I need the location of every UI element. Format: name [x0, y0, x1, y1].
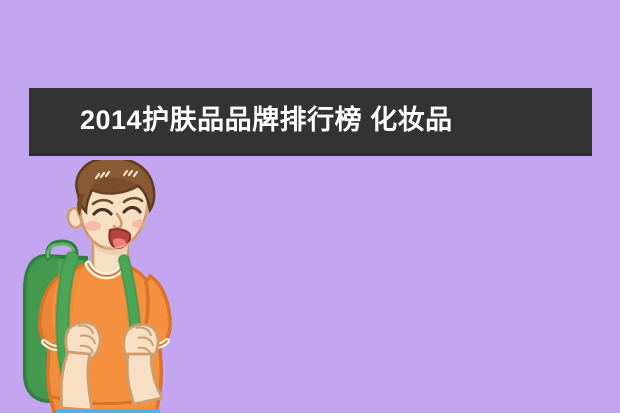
- blue-jeans: [56, 409, 160, 413]
- page-title: 2014护肤品品牌排行榜 化妆品: [80, 106, 453, 133]
- title-banner: 2014护肤品品牌排行榜 化妆品: [29, 88, 592, 156]
- head: [68, 160, 154, 249]
- page-canvas: 2014护肤品品牌排行榜 化妆品: [0, 0, 620, 413]
- student-illustration: [0, 160, 250, 413]
